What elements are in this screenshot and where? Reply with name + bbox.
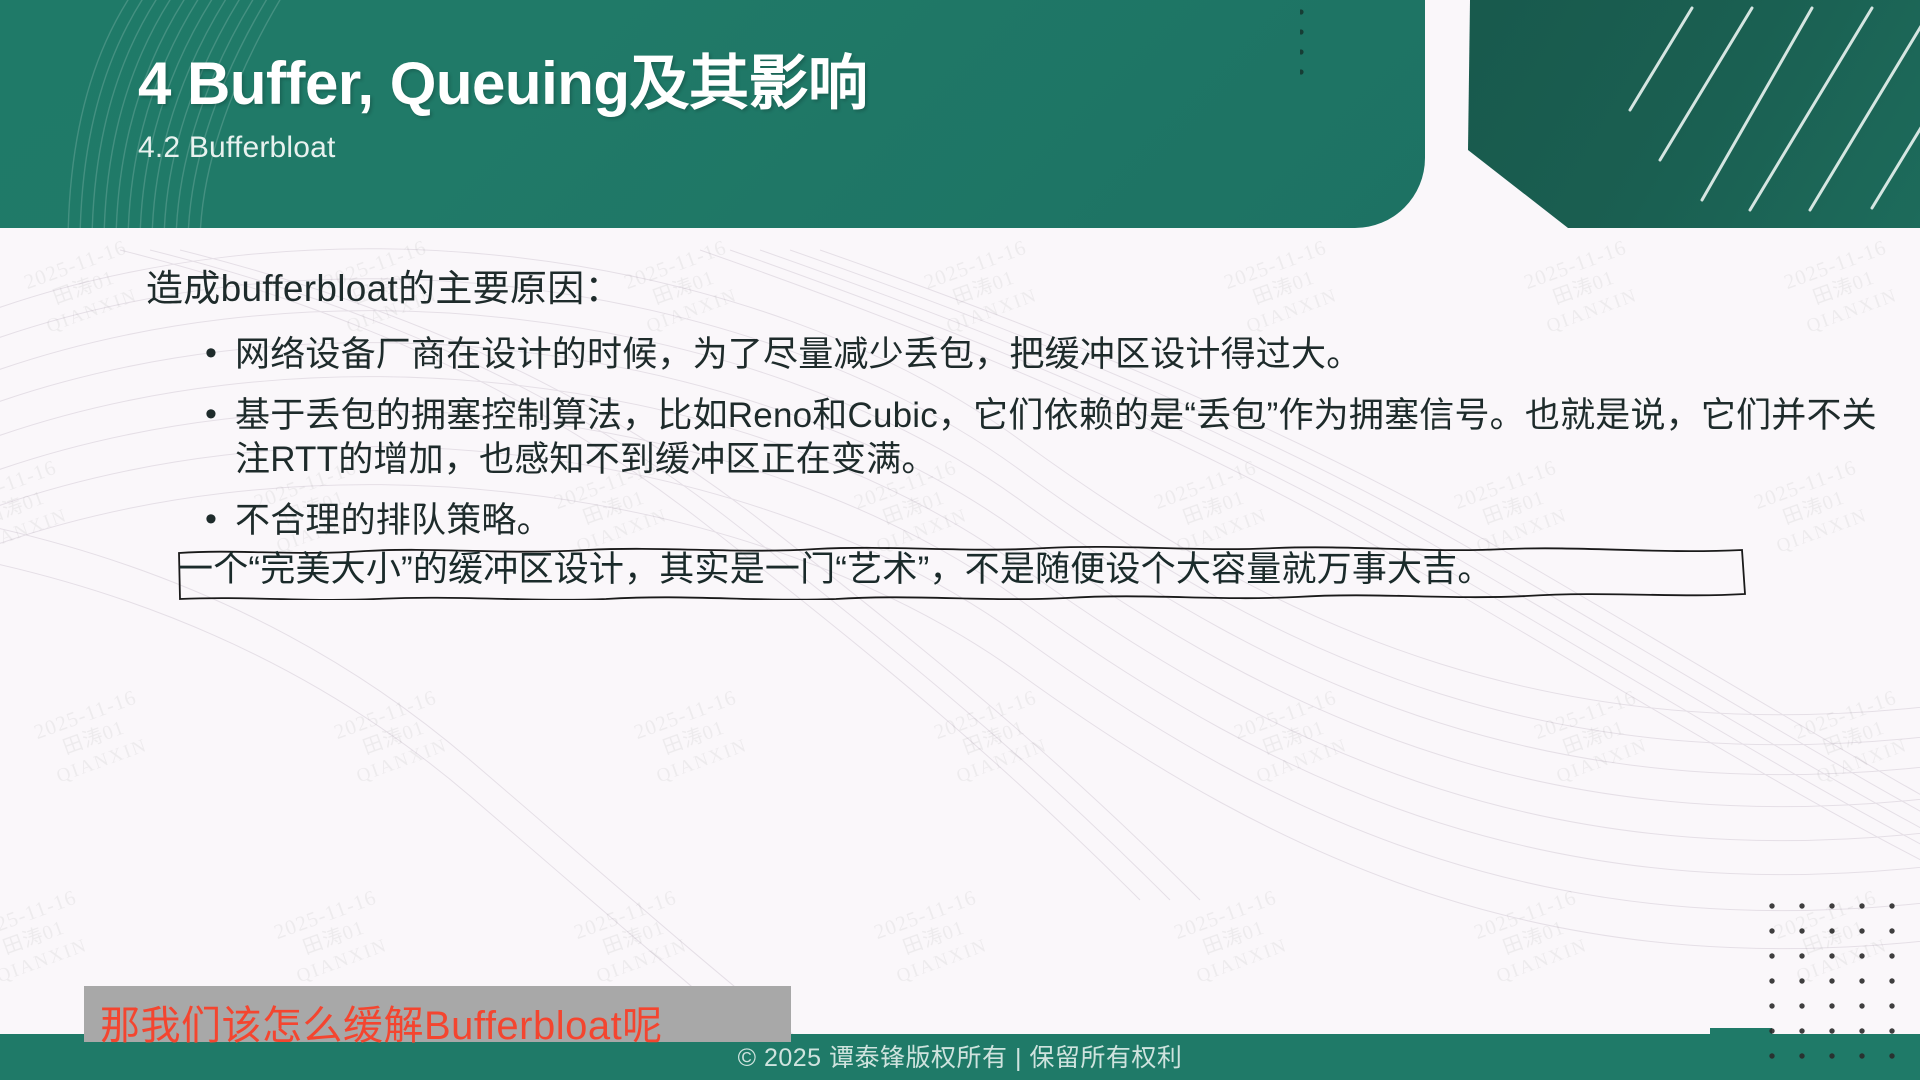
watermark-user: 田涛01 <box>279 909 388 969</box>
highlight-callout: 一个“完美大小”的缓冲区设计，其实是一门“艺术”，不是随便设个大容量就万事大吉。 <box>176 544 1746 596</box>
watermark-date: 2025-11-16 <box>1470 884 1580 945</box>
watermark-date: 2025-11-16 <box>30 684 140 745</box>
list-item: • 网络设备厂商在设计的时候，为了尽量减少丢包，把缓冲区设计得过大。 <box>205 333 1885 376</box>
watermark-brand: QIANXIN <box>38 282 147 341</box>
watermark-date: 2025-11-16 <box>1520 234 1630 295</box>
watermark-brand: QIANXIN <box>1488 932 1597 991</box>
watermark-user: 田涛01 <box>1789 259 1898 319</box>
watermark-brand: QIANXIN <box>348 732 457 791</box>
bullet-text: 基于丢包的拥塞控制算法，比如Reno和Cubic，它们依赖的是“丢包”作为拥塞信… <box>235 394 1885 481</box>
header-diagonal-stripes-icon <box>1300 0 1920 228</box>
watermark-date: 2025-11-16 <box>630 684 740 745</box>
watermark-brand: QIANXIN <box>1188 932 1297 991</box>
watermark-brand: QIANXIN <box>1808 732 1917 791</box>
watermark-user: 田涛01 <box>29 259 138 319</box>
highlight-text: 一个“完美大小”的缓冲区设计，其实是一门“艺术”，不是随便设个大容量就万事大吉。 <box>178 547 1493 593</box>
header-dot-grid-icon <box>1300 6 1325 96</box>
bullet-text: 不合理的排队策略。 <box>235 499 552 542</box>
watermark-brand: QIANXIN <box>0 932 97 991</box>
watermark-brand: QIANXIN <box>588 932 697 991</box>
bullet-text: 网络设备厂商在设计的时候，为了尽量减少丢包，把缓冲区设计得过大。 <box>235 333 1361 376</box>
watermark-brand: QIANXIN <box>1548 732 1657 791</box>
watermark-user: 田涛01 <box>339 709 448 769</box>
page-title: 4 Buffer, Queuing及其影响 <box>138 52 868 117</box>
watermark-date: 2025-11-16 <box>1780 234 1890 295</box>
lead-paragraph: 造成bufferbloat的主要原因： <box>146 258 622 312</box>
watermark-user: 田涛01 <box>1229 259 1338 319</box>
watermark-brand: QIANXIN <box>288 932 397 991</box>
header-title-group: 4 Buffer, Queuing及其影响 4.2 Bufferbloat <box>138 52 868 165</box>
watermark-user: 田涛01 <box>0 479 69 539</box>
watermark-date: 2025-11-16 <box>20 234 130 295</box>
bullet-marker-icon: • <box>205 394 235 434</box>
list-item: • 不合理的排队策略。 <box>205 499 1885 542</box>
watermark-user: 田涛01 <box>1479 909 1588 969</box>
watermark-date: 2025-11-16 <box>920 234 1030 295</box>
watermark-user: 田涛01 <box>1799 709 1908 769</box>
watermark-brand: QIANXIN <box>0 502 77 561</box>
watermark-brand: QIANXIN <box>648 732 757 791</box>
header-dark-overlay <box>1300 0 1920 228</box>
watermark-date: 2025-11-16 <box>570 884 680 945</box>
watermark-brand: QIANXIN <box>948 732 1057 791</box>
bullet-list: • 网络设备厂商在设计的时候，为了尽量减少丢包，把缓冲区设计得过大。 • 基于丢… <box>205 333 1885 561</box>
bullet-marker-icon: • <box>205 499 235 539</box>
watermark-date: 2025-11-16 <box>1170 884 1280 945</box>
watermark-date: 2025-11-16 <box>0 454 60 515</box>
watermark-brand: QIANXIN <box>48 732 157 791</box>
watermark-user: 田涛01 <box>629 259 738 319</box>
bottom-right-green-block <box>1710 1028 1772 1066</box>
watermark-date: 2025-11-16 <box>0 884 80 945</box>
watermark-date: 2025-11-16 <box>620 234 730 295</box>
watermark-user: 田涛01 <box>579 909 688 969</box>
bullet-marker-icon: • <box>205 333 235 373</box>
watermark-date: 2025-11-16 <box>270 884 380 945</box>
watermark-date: 2025-11-16 <box>1530 684 1640 745</box>
watermark-date: 2025-11-16 <box>330 684 440 745</box>
caption-text: 那我们该怎么缓解Bufferbloat呢 <box>100 993 663 1051</box>
page-subtitle: 4.2 Bufferbloat <box>138 131 868 165</box>
watermark-date: 2025-11-16 <box>1230 684 1340 745</box>
bottom-right-dot-grid-icon <box>1764 898 1914 1068</box>
watermark-brand: QIANXIN <box>888 932 997 991</box>
watermark-date: 2025-11-16 <box>870 884 980 945</box>
watermark-user: 田涛01 <box>639 709 748 769</box>
watermark-user: 田涛01 <box>39 709 148 769</box>
watermark-date: 2025-11-16 <box>930 684 1040 745</box>
watermark-date: 2025-11-16 <box>1220 234 1330 295</box>
watermark-user: 田涛01 <box>1529 259 1638 319</box>
watermark-user: 田涛01 <box>929 259 1038 319</box>
list-item: • 基于丢包的拥塞控制算法，比如Reno和Cubic，它们依赖的是“丢包”作为拥… <box>205 394 1885 481</box>
watermark-user: 田涛01 <box>0 909 89 969</box>
watermark-brand: QIANXIN <box>1248 732 1357 791</box>
watermark-user: 田涛01 <box>1179 909 1288 969</box>
watermark-date: 2025-11-16 <box>1790 684 1900 745</box>
watermark-user: 田涛01 <box>1239 709 1348 769</box>
slide-root: 2025-11-16田涛01QIANXIN 2025-11-16田涛01QIAN… <box>0 0 1920 1080</box>
watermark-user: 田涛01 <box>879 909 988 969</box>
watermark-user: 田涛01 <box>1539 709 1648 769</box>
watermark-user: 田涛01 <box>939 709 1048 769</box>
